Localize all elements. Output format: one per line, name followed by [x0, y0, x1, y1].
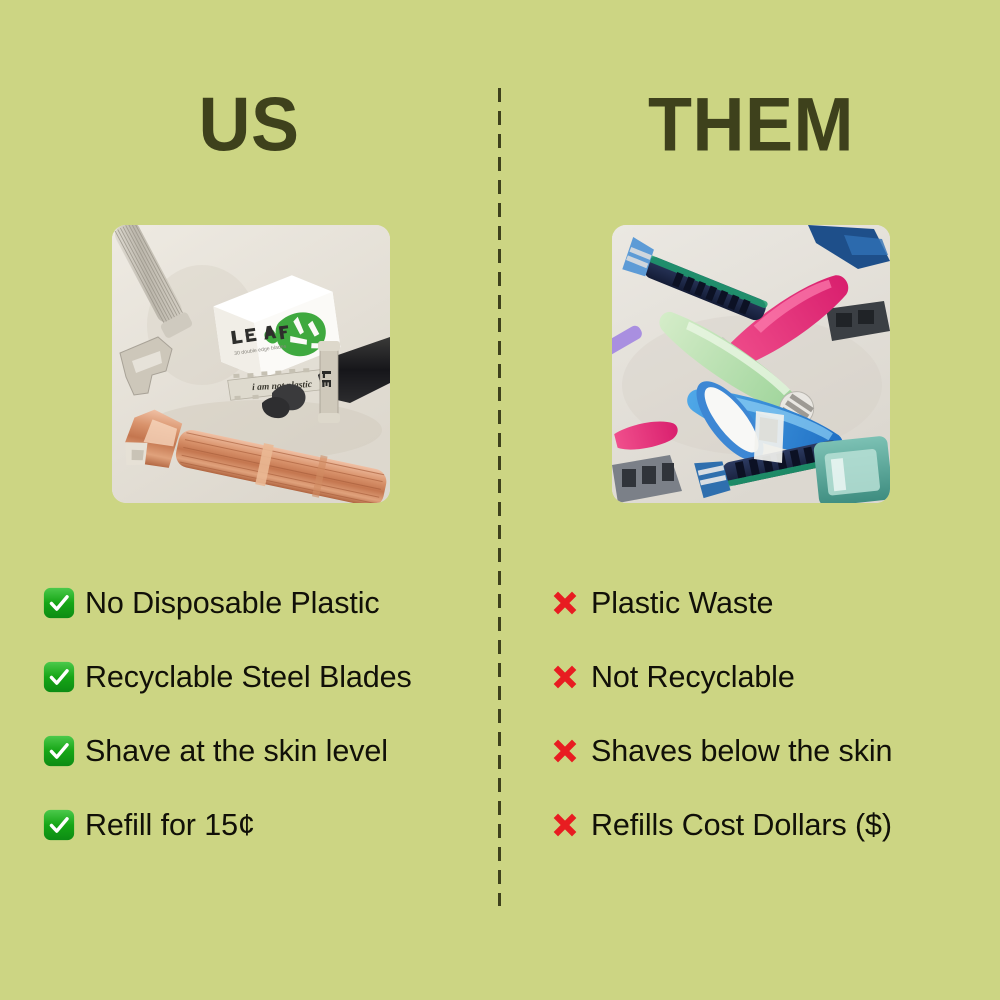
feature-row: Plastic Waste [550, 578, 980, 628]
photo-us-metal-razors: 30 double edge blades i am not plastic [112, 225, 390, 503]
feature-label: Shave at the skin level [85, 736, 388, 767]
feature-label: No Disposable Plastic [85, 588, 380, 619]
check-mark-button-icon [42, 734, 76, 768]
feature-label: Not Recyclable [591, 662, 795, 693]
cross-mark-icon [550, 810, 580, 840]
feature-list-them: Plastic Waste Not Recyclable Shaves belo… [550, 578, 980, 874]
check-mark-button-icon [42, 660, 76, 694]
feature-row: Refill for 15¢ [42, 800, 482, 850]
cross-mark-icon [550, 662, 580, 692]
feature-label: Recyclable Steel Blades [85, 662, 412, 693]
vertical-dashed-divider [498, 88, 501, 906]
cross-mark-icon [550, 736, 580, 766]
check-mark-button-icon [42, 808, 76, 842]
column-header-us: US [0, 84, 498, 167]
feature-row: Refills Cost Dollars ($) [550, 800, 980, 850]
check-mark-button-icon [42, 586, 76, 620]
feature-label: Refills Cost Dollars ($) [591, 810, 892, 841]
feature-row: Shaves below the skin [550, 726, 980, 776]
comparison-infographic: US THEM [0, 0, 1000, 1000]
feature-label: Plastic Waste [591, 588, 773, 619]
feature-row: Shave at the skin level [42, 726, 482, 776]
feature-label: Refill for 15¢ [85, 810, 255, 841]
feature-label: Shaves below the skin [591, 736, 892, 767]
feature-row: Recyclable Steel Blades [42, 652, 482, 702]
feature-row: No Disposable Plastic [42, 578, 482, 628]
cross-mark-icon [550, 588, 580, 618]
feature-list-us: No Disposable Plastic Recyclable Steel B… [42, 578, 482, 874]
photo-them-plastic-razors [612, 225, 890, 503]
feature-row: Not Recyclable [550, 652, 980, 702]
column-header-them: THEM [502, 84, 1000, 167]
